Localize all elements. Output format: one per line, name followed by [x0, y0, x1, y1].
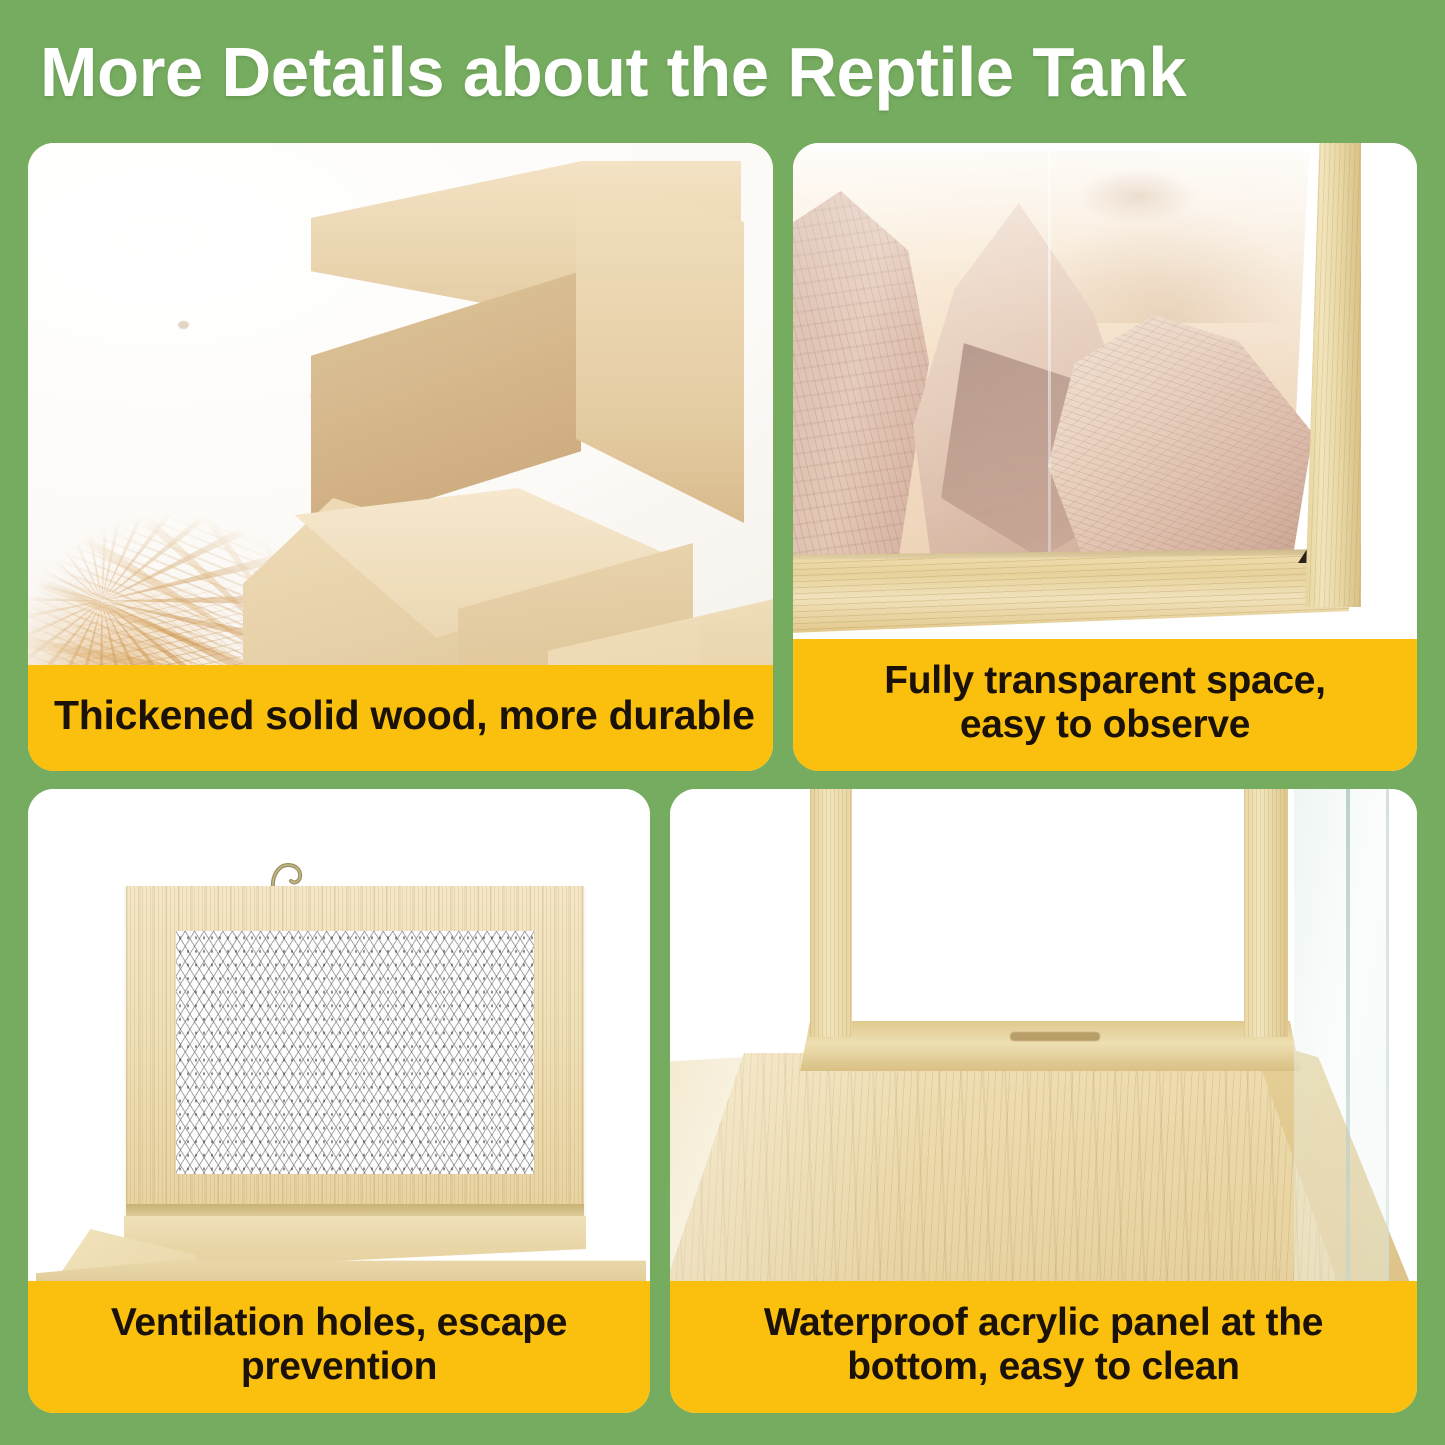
caption-ventilation: Ventilation holes, escape prevention — [28, 1281, 650, 1413]
wood-block-lower-side-face — [700, 623, 773, 665]
photo-ventilation-lid — [28, 789, 650, 1281]
photo-transparent-space — [793, 143, 1417, 639]
photo-background-upper-left — [670, 789, 812, 1053]
feature-card-transparent-space[interactable]: Fully transparent space, easy to observe — [793, 143, 1417, 771]
tank-back-rail — [800, 1021, 1300, 1071]
caption-thickened-wood: Thickened solid wood, more durable — [28, 665, 773, 771]
acrylic-glare-right — [1051, 143, 1313, 571]
caption-waterproof-panel: Waterproof acrylic panel at the bottom, … — [670, 1281, 1417, 1413]
wood-post-right-grain — [1244, 789, 1288, 1037]
acrylic-glare-left — [793, 143, 1049, 571]
photo-background-upper-mid — [851, 789, 1245, 1027]
sawdust-speck — [178, 321, 189, 329]
ventilation-mesh-nodes — [176, 931, 534, 1174]
page-title: More Details about the Reptile Tank — [40, 26, 1389, 118]
back-rail-notch — [1010, 1032, 1100, 1041]
feature-card-ventilation[interactable]: Ventilation holes, escape prevention — [28, 789, 650, 1413]
photo-background-right — [1361, 143, 1417, 638]
glass-side-panel — [1294, 789, 1389, 1281]
photo-thickened-wood — [28, 143, 773, 665]
acrylic-panel-seam — [1048, 143, 1051, 571]
feature-card-thickened-wood[interactable]: Thickened solid wood, more durable — [28, 143, 773, 771]
caption-transparent-space: Fully transparent space, easy to observe — [793, 639, 1417, 771]
feature-card-waterproof-panel[interactable]: Waterproof acrylic panel at the bottom, … — [670, 789, 1417, 1413]
glass-edge — [1346, 789, 1350, 1281]
wood-post-left-grain — [810, 789, 852, 1037]
glass-edge — [1386, 789, 1389, 1281]
photo-waterproof-bottom-panel — [670, 789, 1417, 1281]
